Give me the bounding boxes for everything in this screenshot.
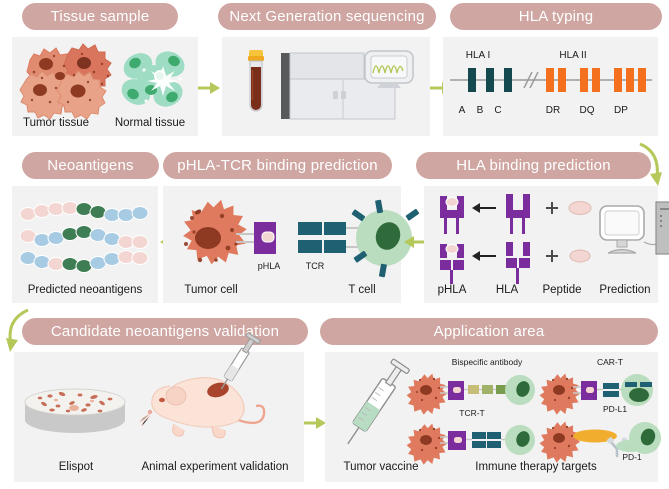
pill-application-label: Application area	[434, 323, 545, 340]
label-bispecific-antibody-text: Bispecific antibody	[452, 357, 522, 367]
caption-prediction-column-text: Prediction	[599, 284, 650, 296]
label-gene-b: B	[470, 105, 490, 116]
caption-animal-experiment: Animal experiment validation	[130, 461, 300, 473]
pill-application: Application area	[320, 318, 658, 345]
figure-canvas: Tissue sample Next Generation sequencing…	[0, 0, 669, 489]
caption-elispot: Elispot	[26, 461, 126, 473]
elispot-plate-icon	[22, 384, 128, 440]
label-car-t: CAR-T	[580, 357, 640, 367]
label-tcr: TCR	[297, 261, 333, 271]
mouse-experiment-icon	[140, 362, 270, 446]
caption-elispot-text: Elispot	[59, 461, 94, 473]
caption-peptide-column-text: Peptide	[542, 284, 581, 296]
normal-tissue-cluster-icon	[118, 46, 196, 112]
caption-tumor-vaccine-text: Tumor vaccine	[344, 461, 419, 473]
pill-hla-binding-label: HLA binding prediction	[456, 157, 611, 174]
caption-phla-column-text: pHLA	[438, 284, 467, 296]
hla-gene-map-icon	[450, 56, 652, 102]
label-hla2-group-text: HLA II	[559, 50, 586, 61]
pill-validation: Candidate neoantigens validation	[22, 318, 308, 345]
pill-tissue-sample-label: Tissue sample	[51, 8, 150, 25]
caption-predicted-neoantigens: Predicted neoantigens	[12, 284, 158, 296]
pill-hla-typing-label: HLA typing	[519, 8, 594, 25]
caption-tumor-cell-text: Tumor cell	[184, 284, 237, 296]
blood-tube-icon	[243, 50, 269, 122]
caption-t-cell-text: T cell	[348, 284, 375, 296]
label-gene-dp-text: DP	[614, 105, 628, 116]
label-phla: pHLA	[251, 261, 287, 271]
label-gene-a-text: A	[459, 105, 466, 116]
label-gene-a: A	[452, 105, 472, 116]
caption-immune-therapy-targets-text: Immune therapy targets	[475, 461, 596, 473]
label-gene-dq: DQ	[575, 105, 599, 116]
label-bispecific-antibody: Bispecific antibody	[432, 357, 542, 367]
caption-immune-therapy-targets: Immune therapy targets	[436, 461, 636, 473]
tcr-t-icon	[412, 418, 532, 460]
label-phla-text: pHLA	[258, 261, 281, 271]
caption-t-cell: T cell	[330, 284, 394, 296]
caption-animal-experiment-text: Animal experiment validation	[141, 461, 288, 473]
caption-tumor-cell: Tumor cell	[168, 284, 254, 296]
label-hla2-group: HLA II	[538, 50, 608, 61]
label-hla1-group-text: HLA I	[466, 50, 490, 61]
pill-hla-binding: HLA binding prediction	[416, 152, 651, 179]
pill-ngs-label: Next Generation sequencing	[229, 8, 424, 25]
label-tcr-t: TCR-T	[442, 408, 502, 418]
label-car-t-text: CAR-T	[597, 357, 623, 367]
label-tcr-t-text: TCR-T	[459, 408, 485, 418]
arrow-tissue-to-ngs-icon	[198, 80, 222, 96]
pill-phla-tcr: pHLA-TCR binding prediction	[163, 152, 392, 179]
label-gene-dq-text: DQ	[580, 105, 595, 116]
pill-phla-tcr-label: pHLA-TCR binding prediction	[177, 157, 378, 174]
pill-hla-typing: HLA typing	[450, 3, 662, 30]
caption-tumor-tissue-text: Tumor tissue	[23, 117, 89, 129]
label-pd-l1: PD-L1	[590, 404, 640, 414]
caption-predicted-neoantigens-text: Predicted neoantigens	[28, 284, 142, 296]
pill-neoantigens-label: Neoantigens	[47, 157, 133, 174]
label-gene-dr: DR	[541, 105, 565, 116]
tumor-vaccine-syringe-icon	[338, 372, 398, 456]
pill-ngs: Next Generation sequencing	[218, 3, 436, 30]
pill-neoantigens: Neoantigens	[22, 152, 159, 179]
label-gene-c-text: C	[494, 105, 501, 116]
caption-phla-column: pHLA	[428, 284, 476, 296]
pill-tissue-sample: Tissue sample	[22, 3, 178, 30]
caption-normal-tissue: Normal tissue	[104, 117, 196, 129]
label-gene-b-text: B	[477, 105, 484, 116]
caption-normal-tissue-text: Normal tissue	[115, 117, 185, 129]
label-gene-dp: DP	[609, 105, 633, 116]
label-gene-c: C	[488, 105, 508, 116]
caption-hla-column: HLA	[486, 284, 528, 296]
caption-hla-column-text: HLA	[496, 284, 518, 296]
caption-prediction-column: Prediction	[592, 284, 658, 296]
label-gene-dr-text: DR	[546, 105, 560, 116]
bispecific-antibody-icon	[412, 368, 532, 410]
label-hla1-group: HLA I	[443, 50, 513, 61]
label-tcr-text: TCR	[306, 261, 325, 271]
caption-peptide-column: Peptide	[534, 284, 590, 296]
label-pd-l1-text: PD-L1	[603, 404, 627, 414]
pill-validation-label: Candidate neoantigens validation	[51, 323, 279, 340]
arrow-hlabinding-to-phla-icon	[402, 234, 426, 250]
sequencer-machine-icon	[281, 47, 421, 127]
tumor-tissue-cluster-icon	[18, 42, 118, 114]
caption-tumor-tissue: Tumor tissue	[14, 117, 98, 129]
caption-tumor-vaccine: Tumor vaccine	[328, 461, 434, 473]
peptide-chains-icon	[20, 196, 150, 276]
hla-binding-diagram-icon	[434, 192, 649, 284]
